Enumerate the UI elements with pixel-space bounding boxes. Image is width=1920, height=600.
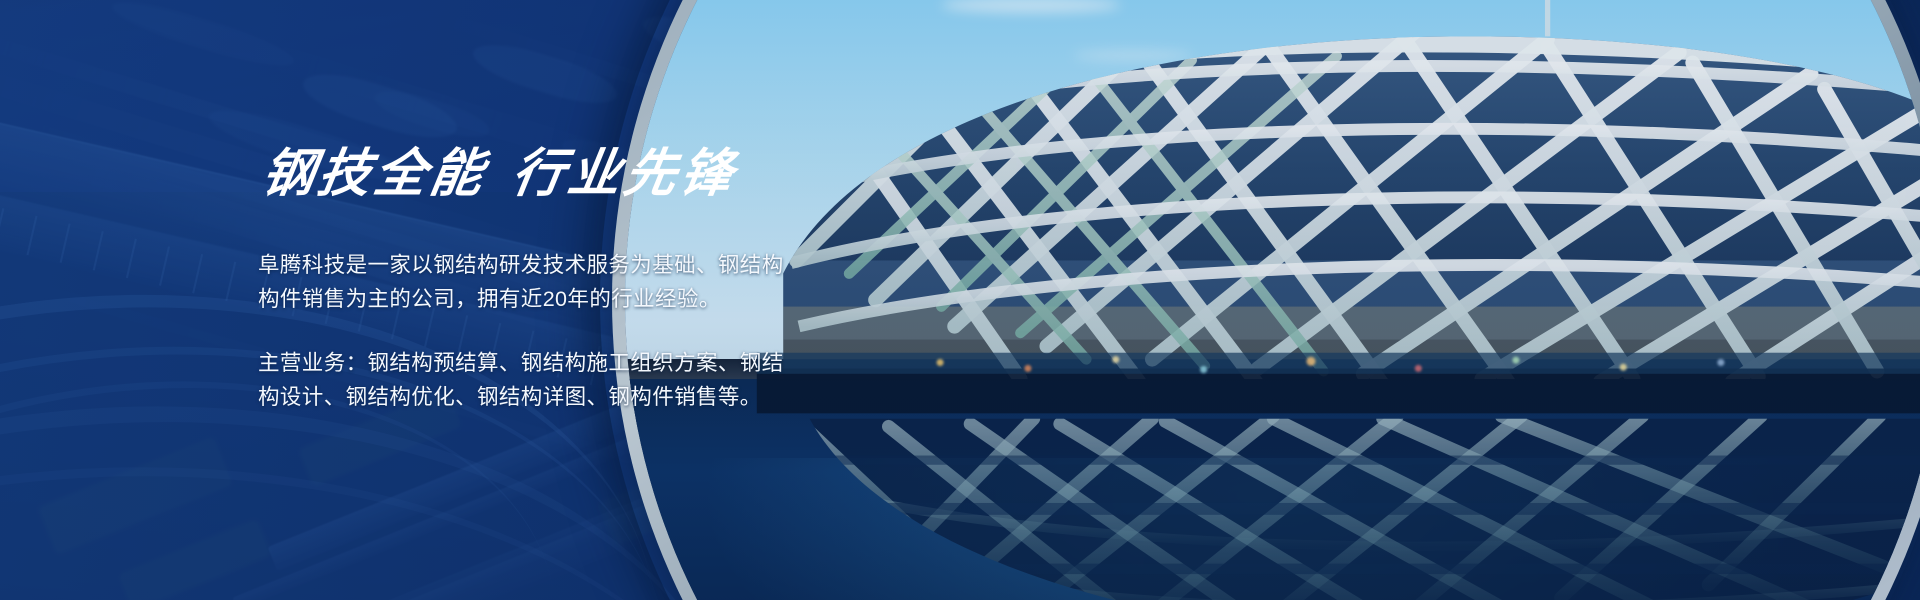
birds-nest-stadium-image <box>625 0 1920 600</box>
company-intro-line-1: 阜腾科技是一家以钢结构研发技术服务为基础、钢结构 <box>258 248 770 282</box>
headline-part-2: 行业先锋 <box>508 145 741 203</box>
stadium-base-lights <box>862 333 1837 392</box>
stadium-photo <box>625 0 1920 600</box>
services-line-1: 主营业务：钢结构预结算、钢结构施工组织方案、钢结 <box>258 346 770 380</box>
company-intro-line-2: 构件销售为主的公司，拥有近20年的行业经验。 <box>258 282 770 316</box>
banner-copy: 钢技全能行业先锋 阜腾科技是一家以钢结构研发技术服务为基础、钢结构 构件销售为主… <box>258 146 778 414</box>
services-paragraph: 主营业务：钢结构预结算、钢结构施工组织方案、钢结 构设计、钢结构优化、钢结构详图… <box>258 346 770 414</box>
company-intro-paragraph: 阜腾科技是一家以钢结构研发技术服务为基础、钢结构 构件销售为主的公司，拥有近20… <box>258 248 770 316</box>
services-line-2: 构设计、钢结构优化、钢结构详图、钢构件销售等。 <box>258 380 770 414</box>
stadium-lattice-structure <box>625 0 1920 600</box>
headline-part-1: 钢技全能 <box>258 145 491 203</box>
page-title: 钢技全能行业先锋 <box>258 146 787 202</box>
hero-banner: 钢技全能行业先锋 阜腾科技是一家以钢结构研发技术服务为基础、钢结构 构件销售为主… <box>0 0 1920 600</box>
circular-photo-frame <box>612 0 1920 600</box>
